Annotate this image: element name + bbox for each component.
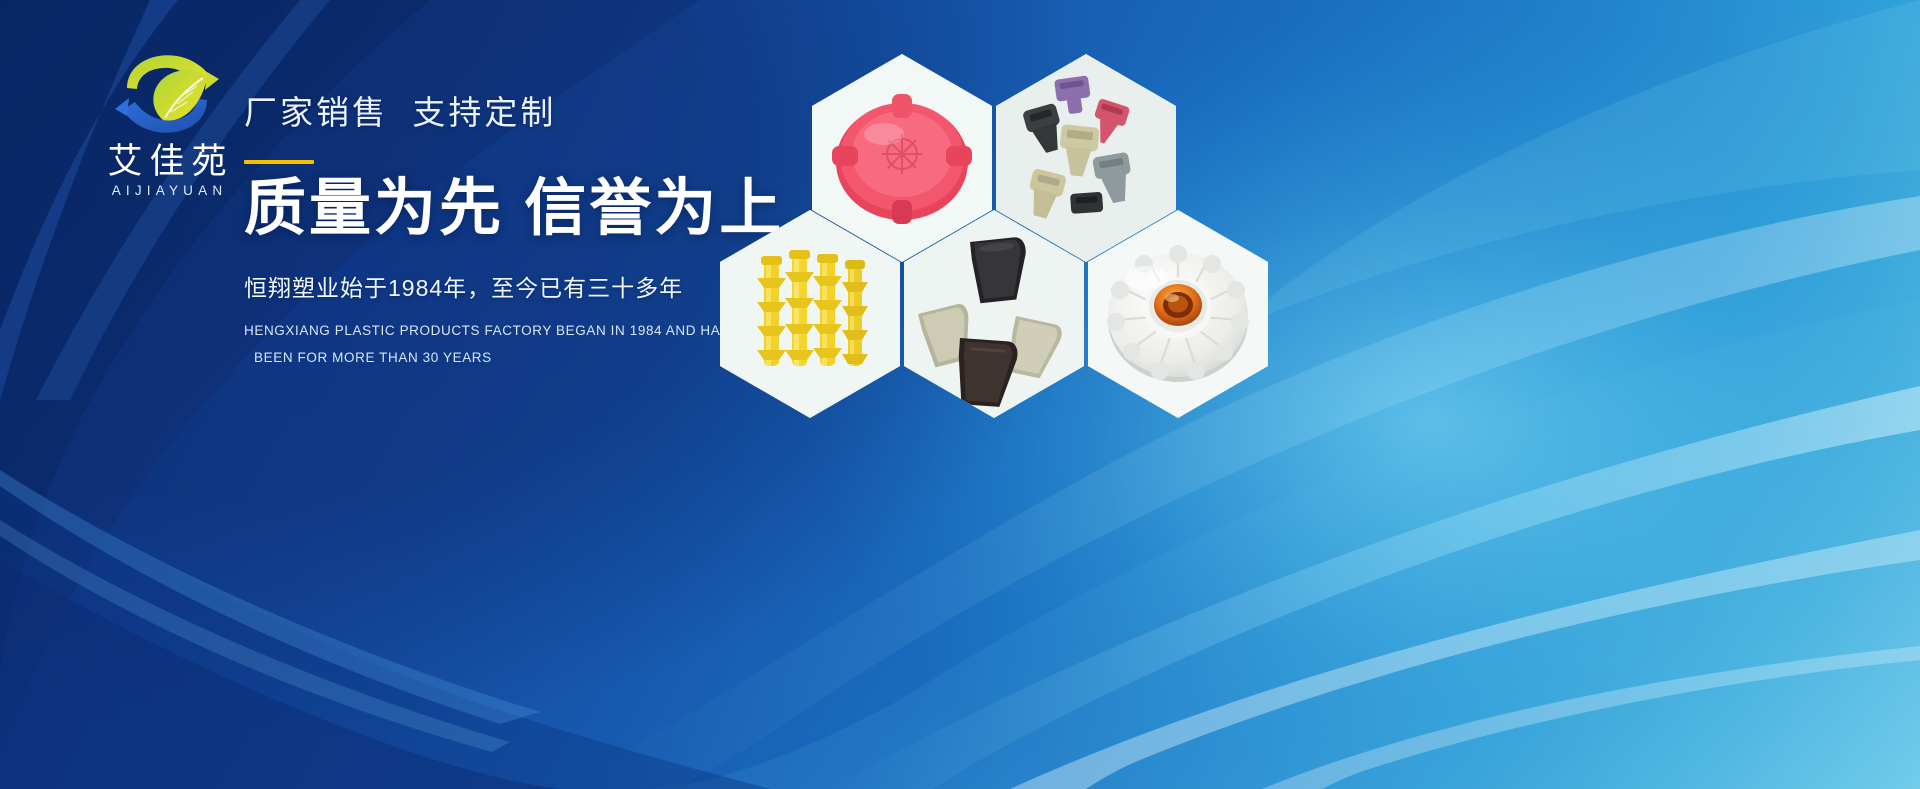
brand-name-en: AIJIAYUAN xyxy=(72,183,262,198)
accent-divider xyxy=(244,160,314,164)
leaf-swoosh-logo-icon xyxy=(107,48,227,140)
brand-name-cn: 艾佳苑 xyxy=(72,144,262,181)
product-hexagon-collage xyxy=(800,48,1300,378)
hero-banner: 艾佳苑 AIJIAYUAN 厂家销售 支持定制 质量为先 信誉为上 恒翔塑业始于… xyxy=(0,0,1920,789)
brand-logo: 艾佳苑 AIJIAYUAN xyxy=(72,48,262,198)
